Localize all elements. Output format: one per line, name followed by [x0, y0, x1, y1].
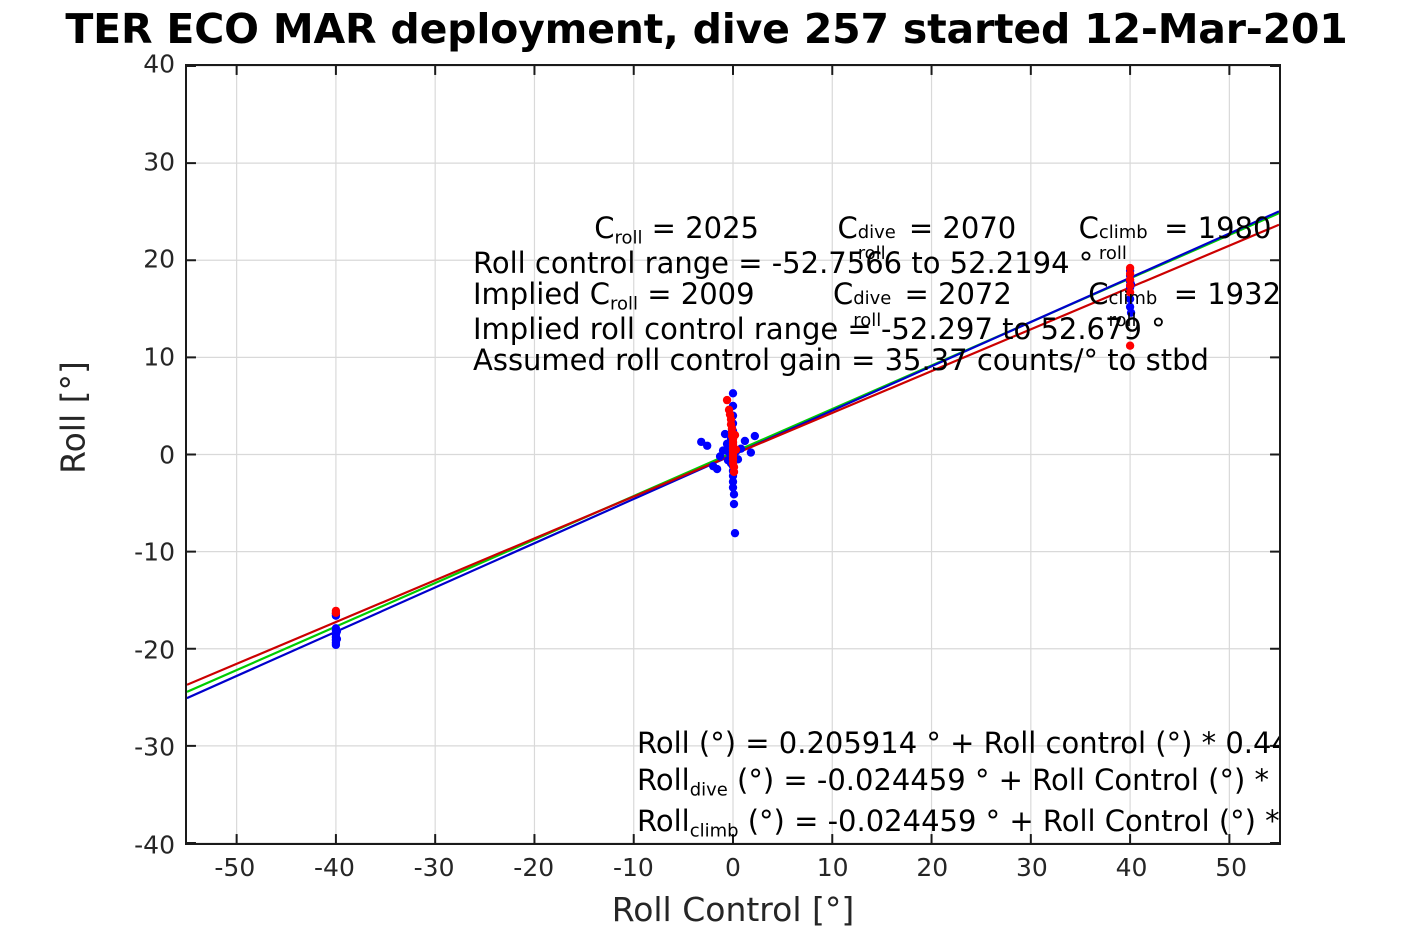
- annotation-line-5: Assumed roll control gain = 35.37 counts…: [473, 345, 1281, 376]
- y-tick-label: 0: [113, 440, 175, 469]
- annotation-equations: Roll (°) = 0.205914 ° + Roll control (°)…: [637, 728, 1281, 845]
- x-tick-label: 10: [793, 853, 873, 882]
- equation-climb-subscript: climb: [690, 821, 739, 842]
- equation-climb-name: Roll: [637, 804, 690, 838]
- x-tick-label: -30: [394, 853, 474, 882]
- annotation-line-1: Croll = 2025 Cdiveroll = 2070 Cclimbroll…: [477, 213, 1281, 248]
- y-tick-label: 30: [113, 147, 175, 176]
- y-axis-label: Roll [°]: [54, 218, 93, 618]
- implied-c-roll-dive-symbol: C: [833, 277, 853, 311]
- equation-climb-body: (°) = -0.024459 ° + Roll Control (°) * 0…: [739, 804, 1282, 838]
- y-tick-label: 10: [113, 342, 175, 371]
- y-tick-label: -40: [113, 831, 175, 860]
- c-roll-climb-superscript: climb: [1099, 223, 1148, 242]
- x-tick-label: 40: [1092, 853, 1172, 882]
- y-tick-label: -20: [113, 635, 175, 664]
- implied-c-roll-dive-value: = 2072: [904, 277, 1011, 311]
- plot-area: Croll = 2025 Cdiveroll = 2070 Cclimbroll…: [185, 64, 1281, 845]
- x-tick-label: -50: [195, 853, 275, 882]
- annotation-parameters: Croll = 2025 Cdiveroll = 2070 Cclimbroll…: [477, 213, 1281, 377]
- equation-dive: Rolldive (°) = -0.024459 ° + Roll Contro…: [637, 765, 1281, 800]
- c-roll-value: = 2025: [652, 211, 759, 245]
- equation-dive-subscript: dive: [690, 780, 728, 801]
- implied-c-roll-climb-value: = 1932: [1174, 277, 1281, 311]
- x-tick-label: -10: [593, 853, 673, 882]
- chart-title: TER ECO MAR deployment, dive 257 started…: [0, 0, 1417, 58]
- x-tick-label: 0: [693, 853, 773, 882]
- y-tick-label: 20: [113, 245, 175, 274]
- implied-c-roll-symbol: C: [590, 277, 610, 311]
- x-tick-label: -40: [294, 853, 374, 882]
- implied-c-roll-value: = 2009: [647, 277, 754, 311]
- y-tick-label: -30: [113, 733, 175, 762]
- equation-combined: Roll (°) = 0.205914 ° + Roll control (°)…: [637, 728, 1281, 759]
- equation-dive-body: (°) = -0.024459 ° + Roll Control (°) * 0…: [728, 763, 1281, 797]
- y-tick-label: -10: [113, 538, 175, 567]
- c-roll-climb-value: = 1980: [1164, 211, 1271, 245]
- x-tick-label: -20: [494, 853, 574, 882]
- c-roll-climb-subscript: roll: [1099, 244, 1127, 263]
- x-tick-label: 50: [1191, 853, 1271, 882]
- x-tick-label: 20: [892, 853, 972, 882]
- c-roll-dive-value: = 2070: [909, 211, 1016, 245]
- c-roll-symbol: C: [594, 211, 614, 245]
- x-axis-label: Roll Control [°]: [185, 890, 1281, 929]
- c-roll-climb-symbol: C: [1079, 211, 1099, 245]
- implied-c-roll-climb-symbol: C: [1088, 277, 1108, 311]
- equation-dive-name: Roll: [637, 763, 690, 797]
- c-roll-dive-superscript: dive: [858, 223, 896, 242]
- annotation-line-3: Implied Croll = 2009 Cdiveroll = 2072 Cc…: [473, 279, 1281, 314]
- c-roll-dive-symbol: C: [837, 211, 857, 245]
- implied-c-roll-dive-subscript: roll: [853, 311, 881, 330]
- c-roll-dive-subscript: roll: [858, 244, 886, 263]
- y-tick-label: 40: [113, 50, 175, 79]
- equation-climb: Rollclimb (°) = -0.024459 ° + Roll Contr…: [637, 806, 1281, 841]
- implied-c-roll-climb-subscript: roll: [1109, 311, 1137, 330]
- implied-c-roll-climb-superscript: climb: [1109, 289, 1158, 308]
- implied-prefix: Implied: [473, 277, 590, 311]
- chart-title-text: TER ECO MAR deployment, dive 257 started…: [65, 0, 1347, 58]
- implied-c-roll-dive-superscript: dive: [853, 289, 891, 308]
- x-tick-label: 30: [992, 853, 1072, 882]
